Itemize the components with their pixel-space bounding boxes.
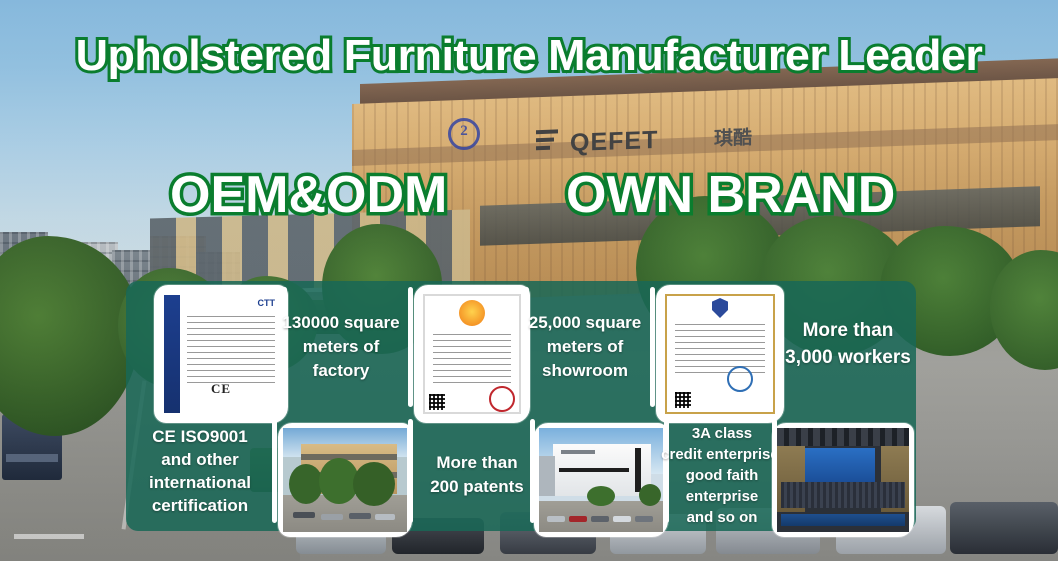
patents-count-text: More than 200 patents xyxy=(414,451,540,499)
showroom-area-line-2: meters of xyxy=(520,335,650,359)
certification-line-3: international xyxy=(130,471,270,494)
certification-line-4: certification xyxy=(130,494,270,517)
factory-area-line-1: 130000 square xyxy=(276,311,406,335)
patents-line-1: More than xyxy=(414,451,540,475)
showroom-area-text: 25,000 square meters of showroom xyxy=(520,311,650,383)
factory-area-line-2: meters of xyxy=(276,335,406,359)
staff-crowd xyxy=(781,482,905,508)
red-seal-icon xyxy=(489,386,515,412)
subtitle-own-brand: OWN BRAND xyxy=(566,160,895,230)
highlights-panel: DECLARATION OF CONFORMITY CTT CE 130000 … xyxy=(126,281,916,531)
iso-quality-certificate xyxy=(661,290,779,418)
certificate-text-lines xyxy=(187,316,275,384)
showroom-building-photo xyxy=(539,428,663,532)
ce-certificate: DECLARATION OF CONFORMITY CTT CE xyxy=(159,290,283,418)
factory-area-line-3: factory xyxy=(276,359,406,383)
workers-line-1: More than xyxy=(782,317,914,344)
iso-certificate-frame xyxy=(656,285,784,423)
stage-lights xyxy=(777,428,909,446)
sun-emblem-icon xyxy=(459,300,485,326)
ce-mark: CE xyxy=(211,382,231,396)
certification-line-2: and other xyxy=(130,448,270,471)
staff-assembly-photo xyxy=(777,428,909,532)
certification-list-text: CE ISO9001 and other international certi… xyxy=(130,425,270,517)
factory-building-photo-frame xyxy=(278,423,412,537)
cell-divider xyxy=(650,287,655,407)
factory-area-text: 130000 square meters of factory xyxy=(276,311,406,383)
event-banner xyxy=(781,514,905,526)
cell-divider xyxy=(272,419,277,523)
ctt-logo: CTT xyxy=(258,298,276,308)
qr-code-icon xyxy=(429,394,445,410)
subtitle-oem-odm: OEM&ODM xyxy=(170,160,447,230)
qr-code-icon xyxy=(675,392,691,408)
workers-count-text: More than 3,000 workers xyxy=(782,317,914,371)
patents-line-2: 200 patents xyxy=(414,475,540,499)
workers-line-2: 3,000 workers xyxy=(782,344,914,371)
trademark-certificate-frame xyxy=(414,285,530,423)
certificate-text-lines xyxy=(675,324,765,376)
banner-stage: 2 QEFET 琪酷 Upholstered Furniture Manufac… xyxy=(0,0,1058,561)
page-title: Upholstered Furniture Manufacturer Leade… xyxy=(0,26,1058,86)
cell-divider xyxy=(408,419,413,523)
showroom-area-line-3: showroom xyxy=(520,359,650,383)
certificate-side-band: DECLARATION OF CONFORMITY xyxy=(164,295,180,413)
staff-assembly-photo-frame xyxy=(772,423,914,537)
certificate-text-lines xyxy=(433,334,511,388)
accreditation-seal-icon xyxy=(727,366,753,392)
factory-building-photo xyxy=(283,428,407,532)
stage-screen xyxy=(805,448,875,482)
ce-certificate-frame: DECLARATION OF CONFORMITY CTT CE xyxy=(154,285,288,423)
certification-line-1: CE ISO9001 xyxy=(130,425,270,448)
showroom-building-photo-frame xyxy=(534,423,668,537)
showroom-area-line-1: 25,000 square xyxy=(520,311,650,335)
cell-divider xyxy=(408,287,413,407)
trademark-certificate xyxy=(419,290,525,418)
